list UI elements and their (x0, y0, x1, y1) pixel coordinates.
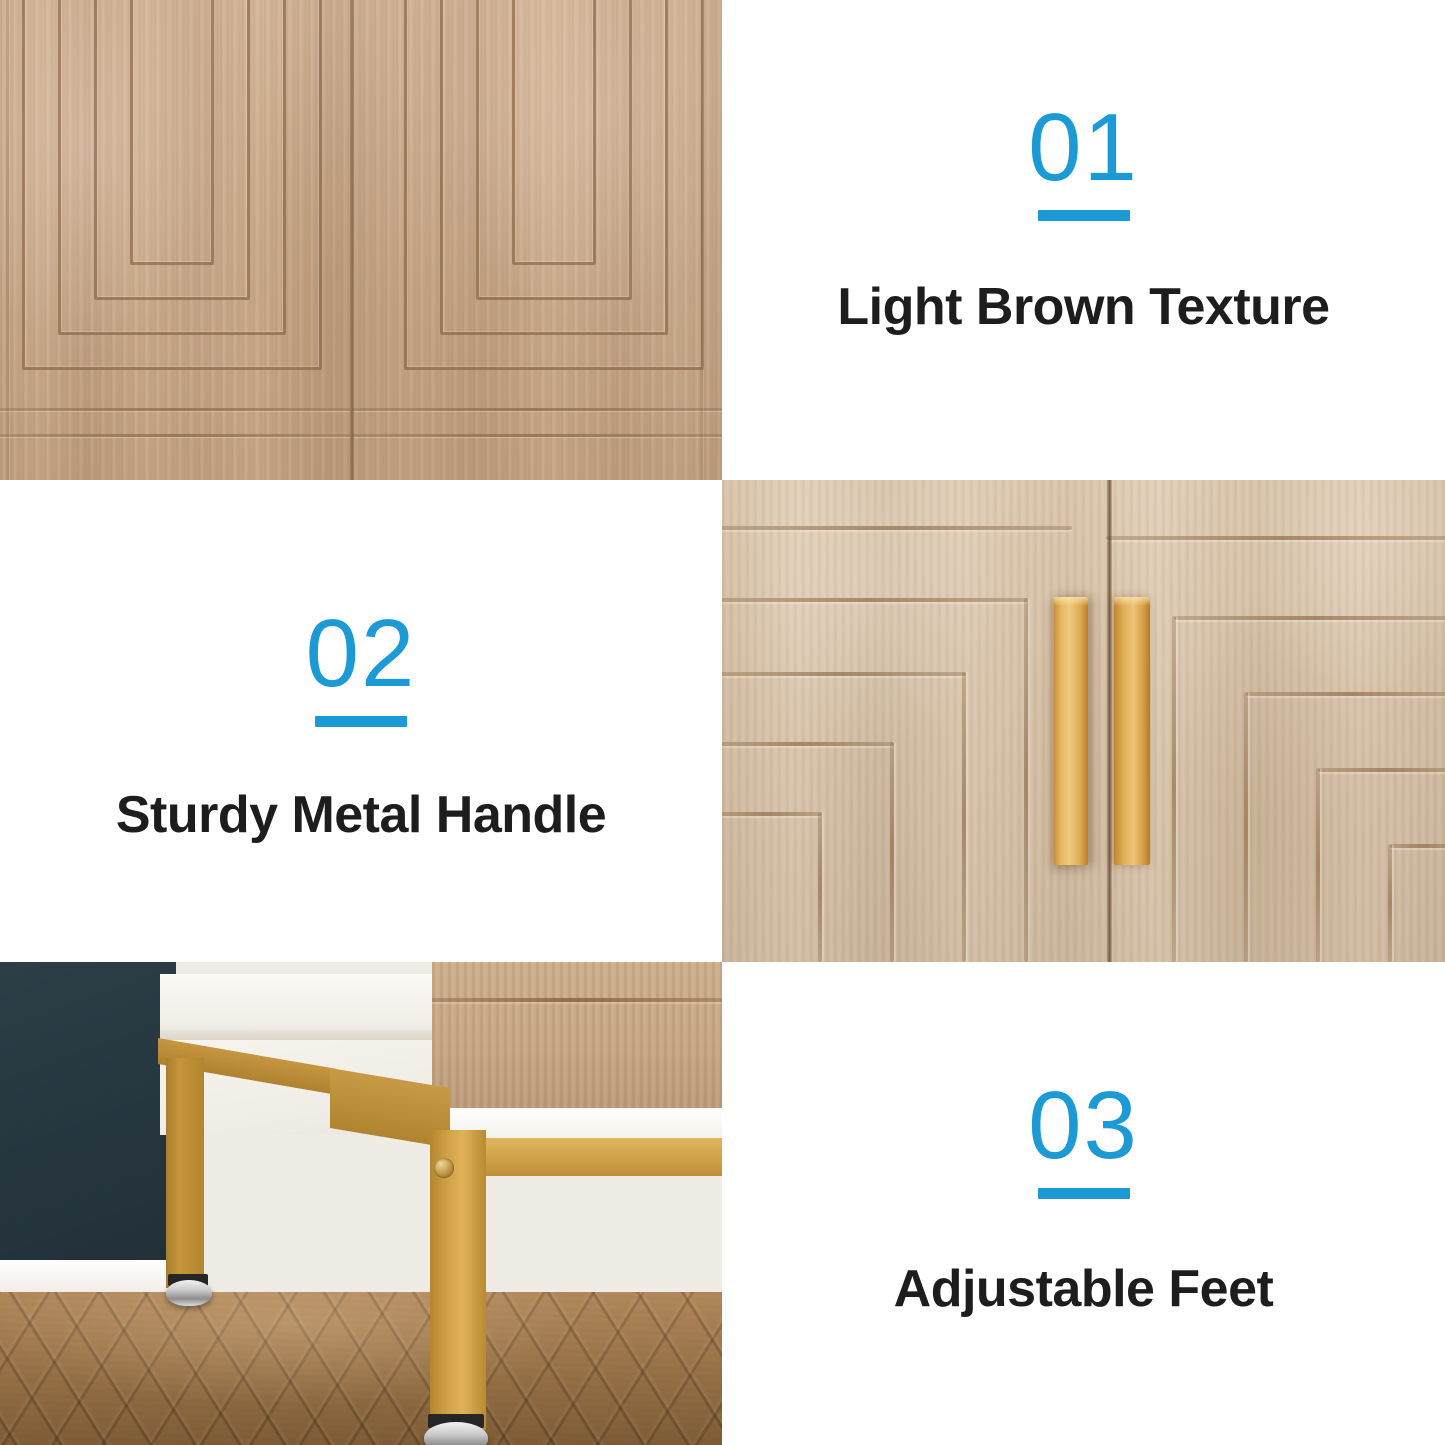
feature-3-underline (1038, 1188, 1130, 1199)
right-door-base-line-2 (352, 434, 722, 437)
herringbone-floor (0, 1292, 722, 1445)
right-groove-v-4 (1388, 844, 1392, 962)
left-groove-v-1 (1024, 598, 1028, 962)
left-door-base-line (0, 408, 350, 411)
feature-2-text-block: 02 Sturdy Metal Handle (0, 480, 722, 962)
gold-handle-left (1054, 597, 1088, 865)
feature-1-caption: Light Brown Texture (837, 277, 1329, 337)
left-groove-v-2 (962, 672, 966, 962)
cabinet-door-groove (432, 998, 722, 1002)
gold-handle-right (1114, 597, 1150, 865)
adjustable-foot-left (166, 1280, 212, 1306)
left-groove-v-4 (818, 812, 822, 962)
right-groove-h-1 (1106, 536, 1445, 540)
right-groove-v-3 (1316, 768, 1320, 962)
product-feature-infographic: 01 Light Brown Texture 02 Sturdy Metal H… (0, 0, 1445, 1445)
cabinet-wood-door (432, 962, 722, 1110)
right-groove-h-3 (1246, 692, 1445, 696)
left-groove-h-3 (722, 672, 966, 676)
feature-3-text-block: 03 Adjustable Feet (722, 962, 1445, 1445)
left-groove-h-4 (722, 742, 894, 746)
photo-sturdy-metal-handle (722, 480, 1445, 962)
feature-1-number-wrap: 01 (1028, 100, 1139, 221)
navy-wall (0, 962, 176, 1272)
left-groove-h-2 (722, 598, 1028, 602)
right-groove-v-1 (1172, 616, 1176, 962)
left-groove-v-3 (890, 742, 894, 962)
feature-1-text-block: 01 Light Brown Texture (722, 0, 1445, 480)
adjustable-feet-image (0, 962, 722, 1445)
feature-3-number: 03 (1028, 1078, 1139, 1174)
feature-2-number-wrap: 02 (306, 606, 417, 727)
left-door-edge-line (6, 0, 9, 480)
right-groove-h-5 (1390, 844, 1445, 848)
handle-closeup-image (722, 480, 1445, 962)
feature-2-caption: Sturdy Metal Handle (116, 785, 606, 845)
right-groove-v-2 (1244, 692, 1248, 962)
handle-left-bevel (1054, 597, 1088, 606)
door-center-seam (1107, 480, 1112, 962)
right-groove-h-4 (1318, 768, 1445, 772)
left-groove-h-5 (722, 812, 822, 816)
floor-sheen (0, 1292, 722, 1445)
gold-leg-left (166, 1058, 204, 1288)
right-door-edge-line (700, 0, 703, 480)
photo-adjustable-feet (0, 962, 722, 1445)
feature-3-number-wrap: 03 (1028, 1078, 1139, 1199)
feature-3-caption: Adjustable Feet (894, 1259, 1274, 1319)
wood-texture-image (0, 0, 722, 480)
feature-1-number: 01 (1028, 100, 1139, 196)
photo-light-brown-texture (0, 0, 722, 480)
left-groove-h-1 (722, 526, 1072, 530)
right-door-base-line (352, 408, 722, 411)
screw-icon (434, 1158, 454, 1178)
feature-2-underline (315, 716, 407, 727)
right-groove-h-2 (1174, 616, 1445, 620)
center-door-gap (350, 0, 354, 480)
handle-right-bevel (1114, 597, 1150, 606)
left-door-base-line-2 (0, 434, 350, 437)
feature-2-number: 02 (306, 606, 417, 702)
feature-1-underline (1038, 210, 1130, 221)
